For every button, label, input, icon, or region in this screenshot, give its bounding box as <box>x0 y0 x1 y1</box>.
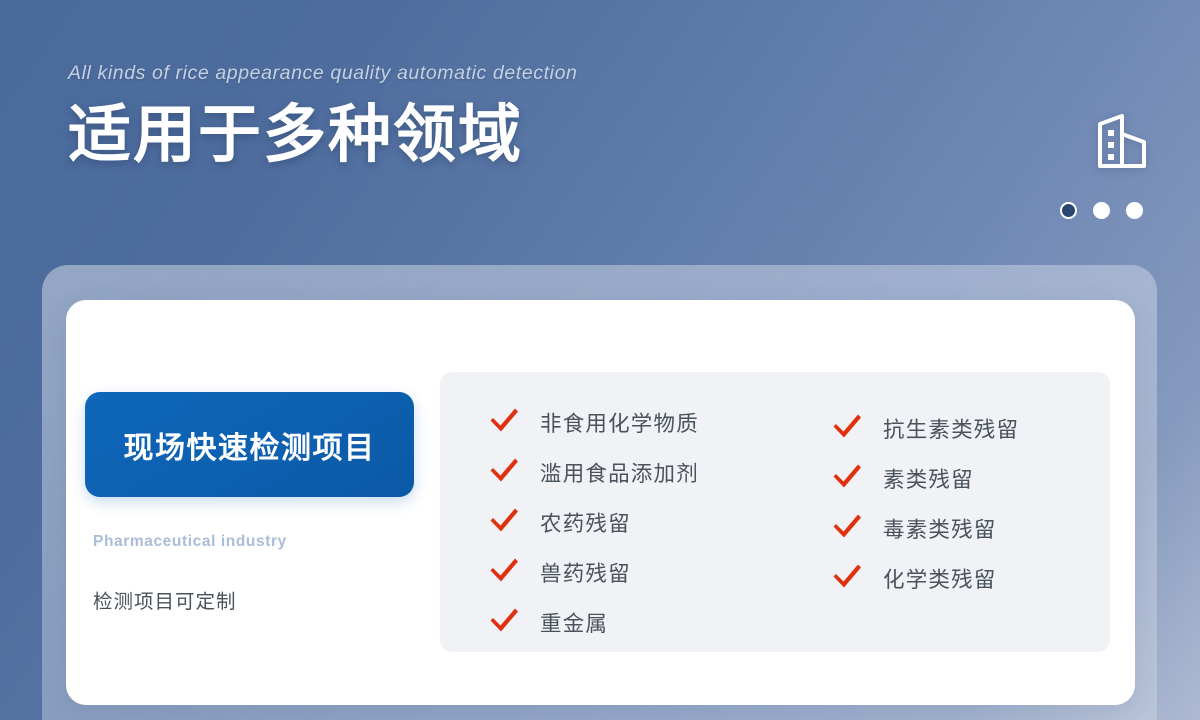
list-item: 重金属 <box>488 597 785 647</box>
check-icon <box>488 507 520 538</box>
checklist-column-left: 非食用化学物质 滥用食品添加剂 农药残留 <box>440 372 785 652</box>
checklist-panel: 非食用化学物质 滥用食品添加剂 农药残留 <box>440 372 1110 652</box>
check-icon <box>831 463 863 494</box>
list-item: 化学类残留 <box>831 553 1110 603</box>
list-item: 素类残留 <box>831 453 1110 503</box>
carousel-dot-3[interactable] <box>1126 202 1143 219</box>
slide-canvas: All kinds of rice appearance quality aut… <box>0 0 1200 720</box>
list-item-label: 素类残留 <box>883 463 974 494</box>
list-item-label: 非食用化学物质 <box>540 407 699 438</box>
list-item-label: 抗生素类残留 <box>883 413 1019 444</box>
customizable-text: 检测项目可定制 <box>93 585 415 614</box>
list-item-label: 农药残留 <box>540 507 631 538</box>
industry-label: Pharmaceutical industry <box>93 533 415 551</box>
carousel-dots[interactable] <box>1060 202 1143 219</box>
page-title: 适用于多种领域 <box>68 99 768 171</box>
check-icon <box>488 457 520 488</box>
check-icon <box>831 563 863 594</box>
list-item-label: 毒素类残留 <box>883 513 997 544</box>
building-icon <box>1092 110 1154 172</box>
list-item-label: 化学类残留 <box>883 563 997 594</box>
check-icon <box>831 513 863 544</box>
header: All kinds of rice appearance quality aut… <box>68 62 768 171</box>
left-panel: 现场快速检测项目 Pharmaceutical industry 检测项目可定制 <box>85 392 415 614</box>
header-subtitle: All kinds of rice appearance quality aut… <box>68 62 768 85</box>
carousel-dot-1[interactable] <box>1060 202 1077 219</box>
list-item: 抗生素类残留 <box>831 403 1110 453</box>
list-item: 非食用化学物质 <box>488 397 785 447</box>
category-button[interactable]: 现场快速检测项目 <box>85 392 414 497</box>
list-item: 滥用食品添加剂 <box>488 447 785 497</box>
check-icon <box>831 413 863 444</box>
checklist-column-right: 抗生素类残留 素类残留 毒素类残留 <box>785 372 1110 652</box>
list-item-label: 兽药残留 <box>540 557 631 588</box>
carousel-dot-2[interactable] <box>1093 202 1110 219</box>
check-icon <box>488 607 520 638</box>
list-item: 兽药残留 <box>488 547 785 597</box>
check-icon <box>488 557 520 588</box>
list-item-label: 重金属 <box>540 607 608 638</box>
check-icon <box>488 407 520 438</box>
list-item: 毒素类残留 <box>831 503 1110 553</box>
list-item-label: 滥用食品添加剂 <box>540 457 699 488</box>
list-item: 农药残留 <box>488 497 785 547</box>
